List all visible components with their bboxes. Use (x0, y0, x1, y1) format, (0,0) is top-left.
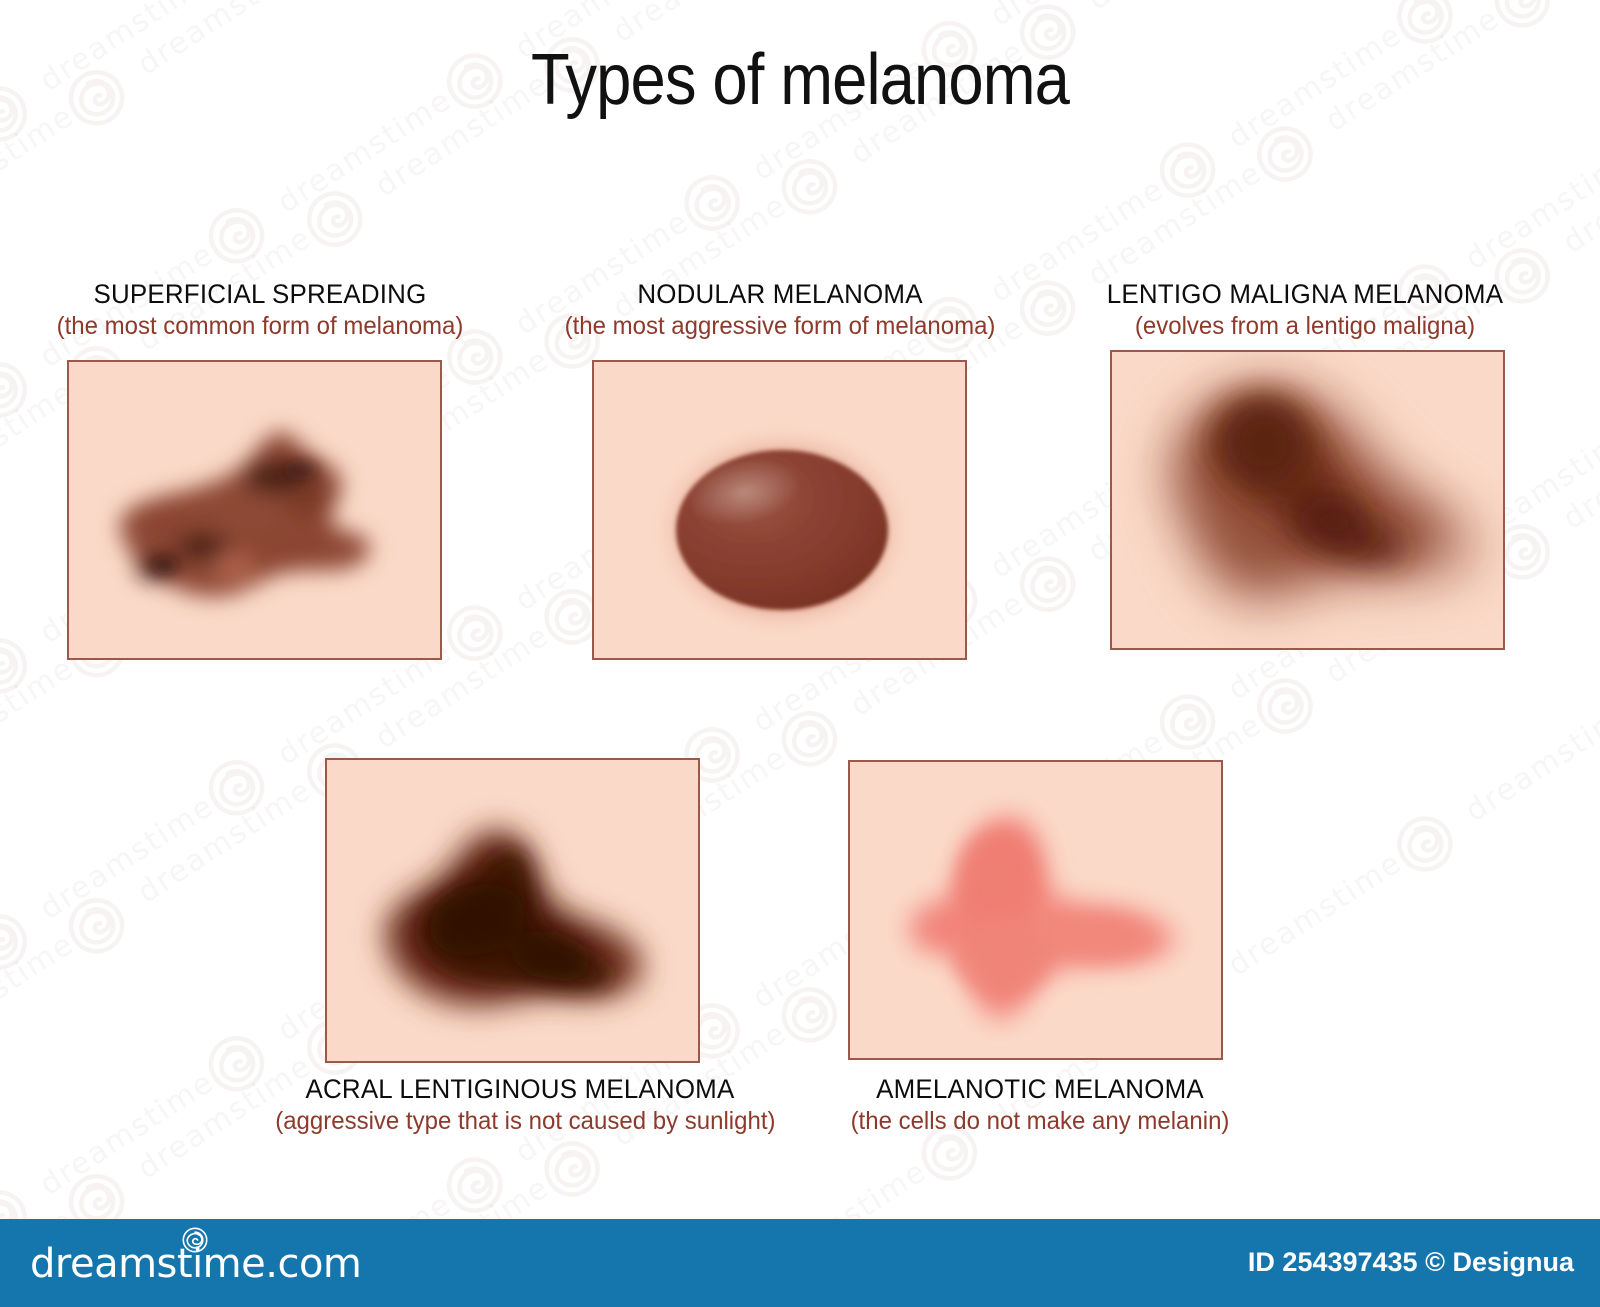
image-credit: ID 254397435 © Designua (1248, 1247, 1574, 1278)
caption-subtitle: (the cells do not make any melanin) (810, 1106, 1271, 1137)
caption-subtitle: (the most common form of melanoma) (54, 311, 467, 342)
caption-title: LENTIGO MALIGNA MELANOMA (1065, 278, 1545, 311)
panel-acral-lentiginous-melanoma: ACRAL LENTIGINOUS MELANOMA (aggressive t… (265, 758, 775, 1148)
illustration-canvas: Types of melanoma SUPERFICIAL SPREADING … (0, 0, 1600, 1307)
footer-bar: dreamstime.com ID 254397435 © Designua (0, 1219, 1600, 1307)
caption-superficial-spreading: SUPERFICIAL SPREADING (the most common f… (45, 278, 475, 342)
skin-frame-lentigo-maligna-melanoma (1110, 350, 1505, 650)
caption-title: AMELANOTIC MELANOMA (810, 1073, 1271, 1106)
caption-title: SUPERFICIAL SPREADING (54, 278, 467, 311)
caption-acral-lentiginous-melanoma: ACRAL LENTIGINOUS MELANOMA (aggressive t… (265, 1073, 775, 1137)
lesion-acral-lentiginous-melanoma (327, 760, 700, 1063)
skin-frame-acral-lentiginous-melanoma (325, 758, 700, 1063)
caption-subtitle: (the most aggressive form of melanoma) (564, 311, 996, 342)
caption-nodular-melanoma: NODULAR MELANOMA (the most aggressive fo… (555, 278, 1005, 342)
caption-lentigo-maligna-melanoma: LENTIGO MALIGNA MELANOMA (evolves from a… (1055, 278, 1555, 342)
lesion-amelanotic-melanoma (850, 762, 1223, 1060)
skin-frame-amelanotic-melanoma (848, 760, 1223, 1060)
panel-nodular-melanoma: NODULAR MELANOMA (the most aggressive fo… (555, 278, 1005, 668)
caption-title: NODULAR MELANOMA (564, 278, 996, 311)
skin-frame-superficial-spreading (67, 360, 442, 660)
page-title: Types of melanoma (96, 38, 1504, 122)
lesion-superficial-spreading (69, 362, 442, 660)
caption-subtitle: (evolves from a lentigo maligna) (1065, 311, 1545, 342)
lesion-lentigo-maligna-melanoma (1112, 352, 1505, 650)
panel-amelanotic-melanoma: AMELANOTIC MELANOMA (the cells do not ma… (800, 748, 1280, 1148)
caption-amelanotic-melanoma: AMELANOTIC MELANOMA (the cells do not ma… (800, 1073, 1280, 1137)
lesion-nodular-melanoma (594, 362, 967, 660)
dreamstime-logo[interactable]: dreamstime.com (30, 1241, 361, 1287)
caption-subtitle: (aggressive type that is not caused by s… (275, 1106, 765, 1137)
caption-title: ACRAL LENTIGINOUS MELANOMA (275, 1073, 765, 1106)
panel-superficial-spreading: SUPERFICIAL SPREADING (the most common f… (45, 278, 475, 668)
skin-frame-nodular-melanoma (592, 360, 967, 660)
spiral-icon (182, 1227, 208, 1253)
panel-lentigo-maligna-melanoma: LENTIGO MALIGNA MELANOMA (evolves from a… (1055, 278, 1555, 668)
